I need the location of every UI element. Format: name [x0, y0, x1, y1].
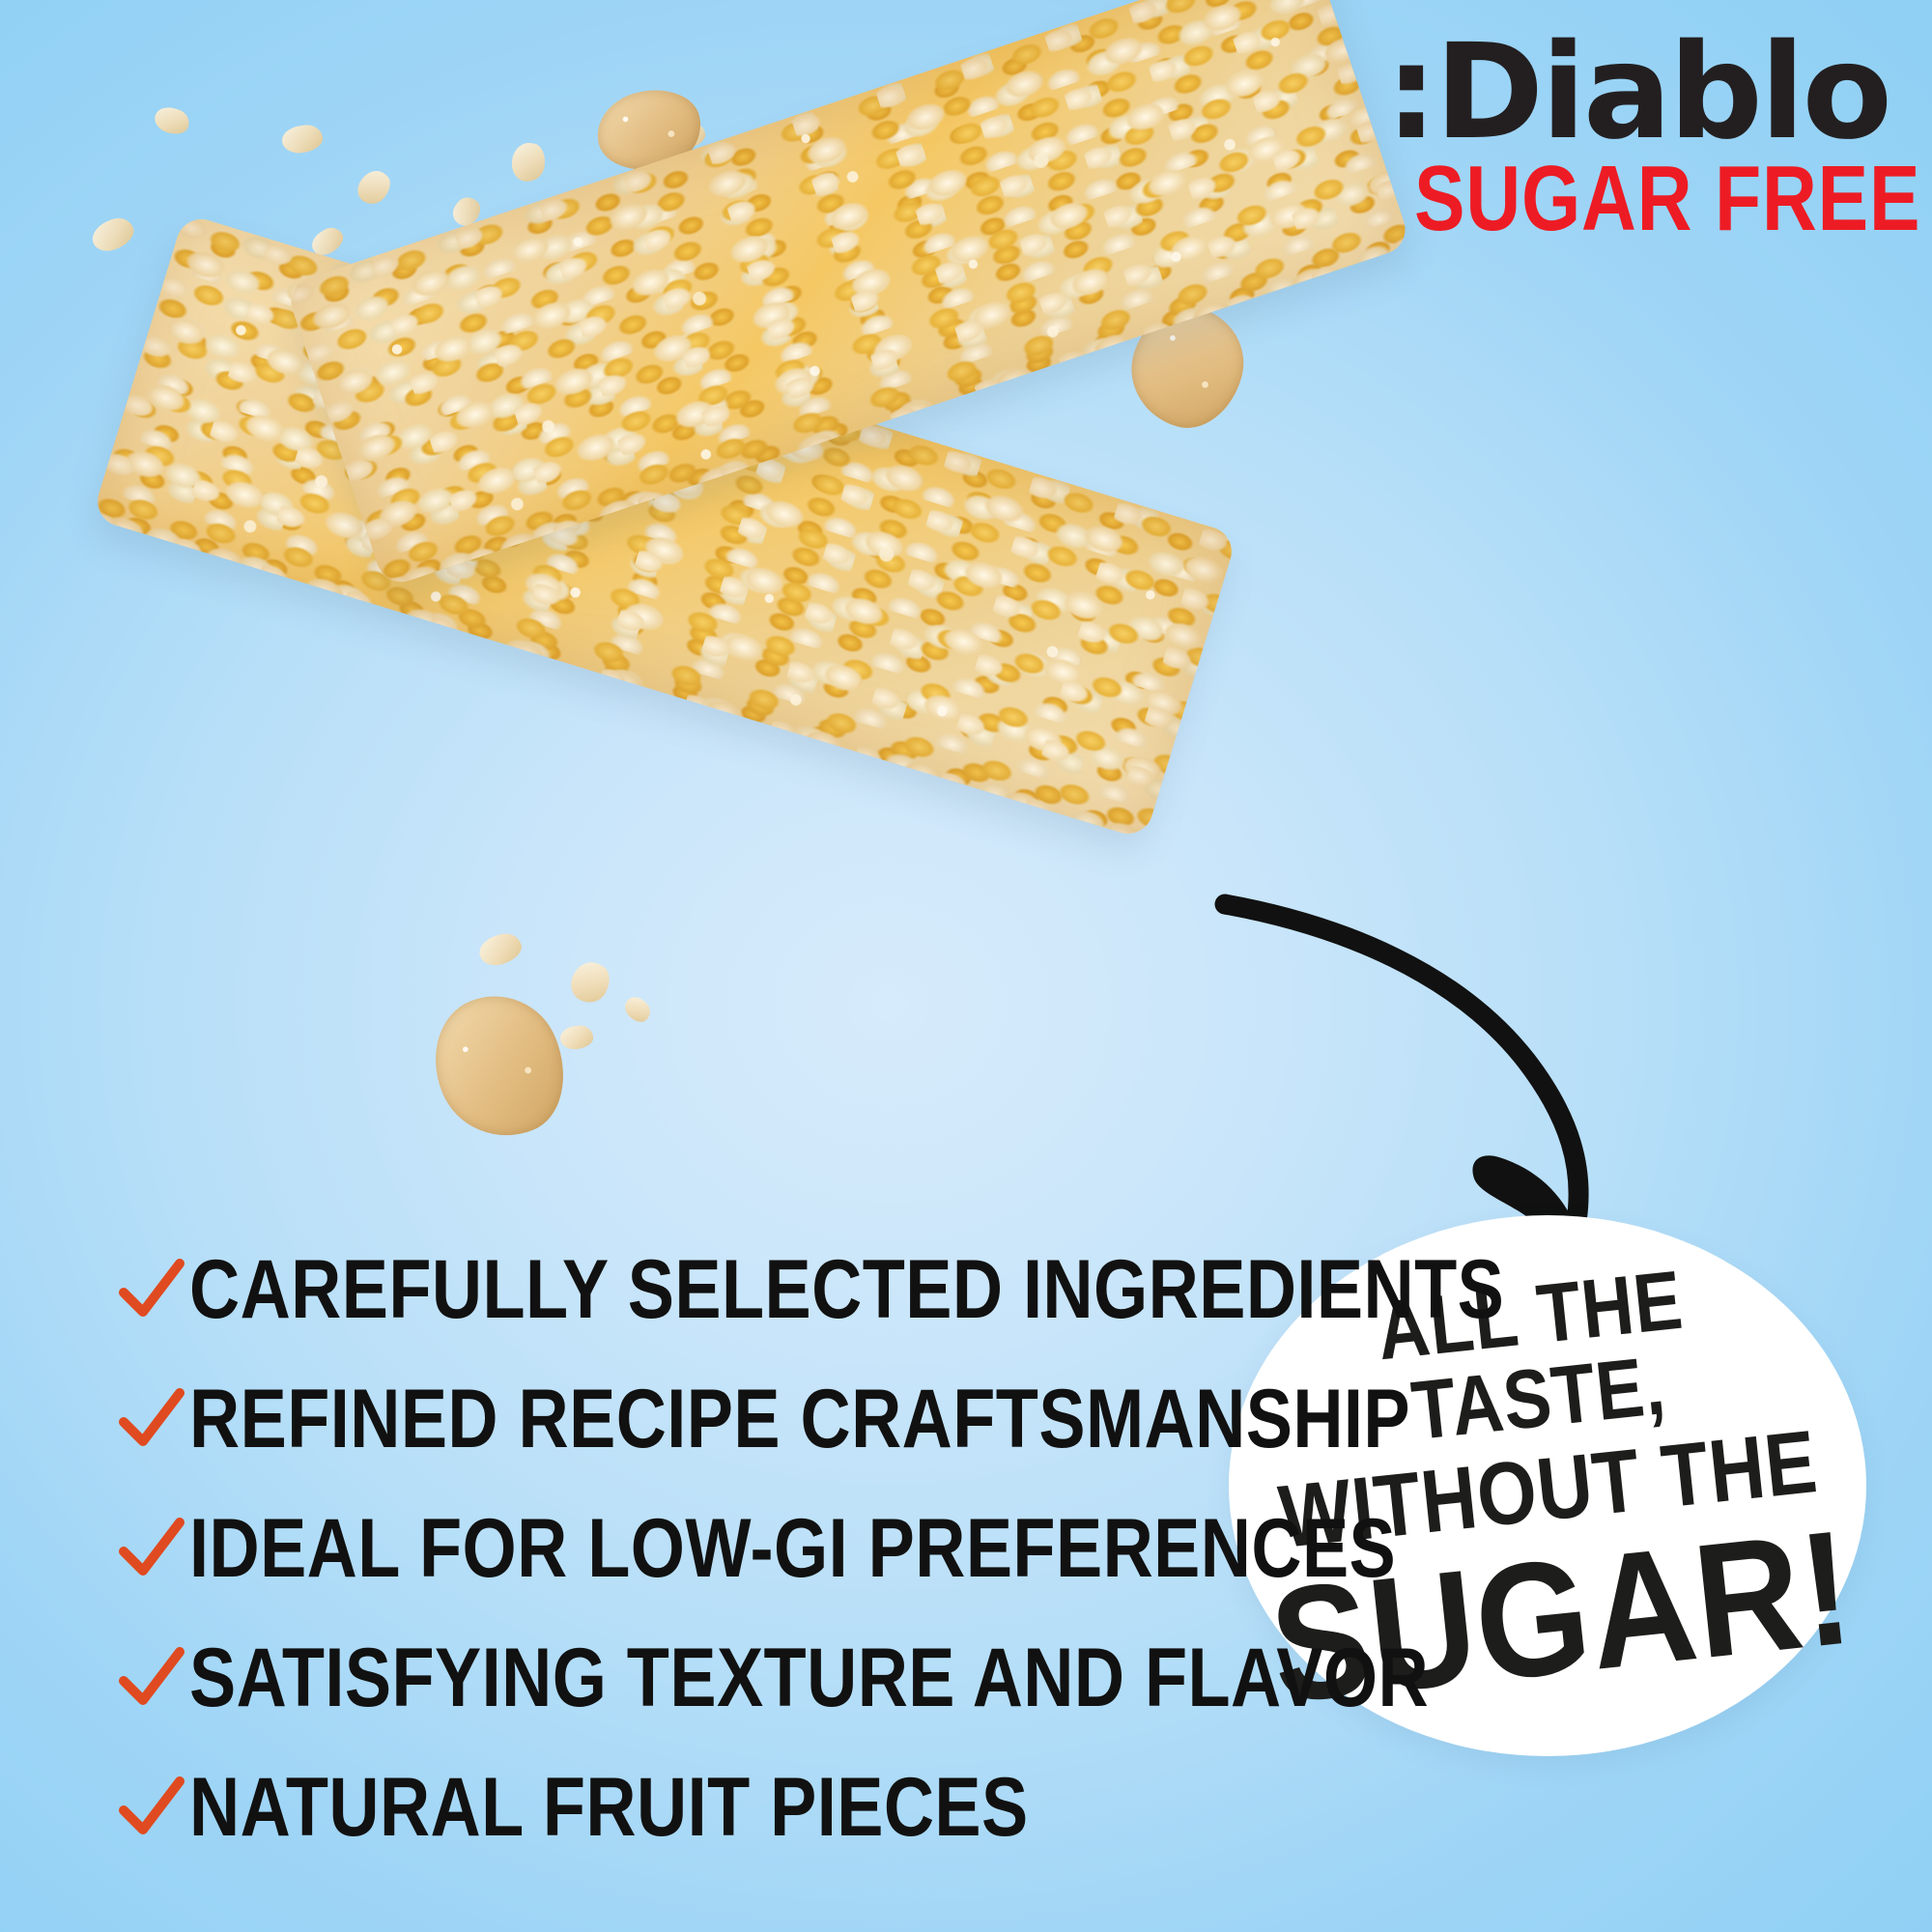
oat-flake-crumb	[620, 992, 654, 1026]
feature-label: IDEAL FOR LOW-GI PREFERENCES	[189, 1507, 1396, 1590]
feature-label: SATISFYING TEXTURE AND FLAVOR	[189, 1636, 1429, 1719]
feature-item: REFINED RECIPE CRAFTSMANSHIP	[114, 1354, 1157, 1484]
brand-tagline: SUGAR FREE	[1414, 157, 1889, 241]
feature-item: CAREFULLY SELECTED INGREDIENTS	[114, 1225, 1157, 1354]
oat-flake-crumb	[559, 1024, 594, 1050]
check-icon	[114, 1252, 189, 1327]
oat-flake-crumb	[88, 213, 138, 256]
feature-list: CAREFULLY SELECTED INGREDIENTS REFINED R…	[114, 1225, 1157, 1872]
check-icon	[114, 1381, 189, 1457]
oat-flake-crumb	[509, 141, 547, 184]
feature-label: NATURAL FRUIT PIECES	[189, 1766, 1029, 1849]
product-ad-poster: :Diablo SUGAR FREE ALL THE TASTE, WITHOU…	[0, 0, 1932, 1932]
curved-arrow-icon	[1140, 850, 1681, 1275]
check-icon	[114, 1770, 189, 1845]
feature-label: CAREFULLY SELECTED INGREDIENTS	[189, 1248, 1504, 1331]
oat-flake-crumb	[564, 956, 615, 1009]
check-icon	[114, 1640, 189, 1716]
check-icon	[114, 1511, 189, 1586]
oat-flake-crumb	[152, 103, 192, 138]
feature-label: REFINED RECIPE CRAFTSMANSHIP	[189, 1378, 1410, 1461]
brand-name: :Diablo	[1310, 33, 1889, 154]
oat-flake-crumb	[352, 165, 396, 211]
feature-item: NATURAL FRUIT PIECES	[114, 1743, 1157, 1872]
cereal-flake-crumb	[414, 977, 584, 1156]
brand-block: :Diablo SUGAR FREE	[1310, 33, 1889, 241]
oat-flake-crumb	[280, 123, 324, 156]
feature-item: SATISFYING TEXTURE AND FLAVOR	[114, 1613, 1157, 1743]
feature-item: IDEAL FOR LOW-GI PREFERENCES	[114, 1484, 1157, 1613]
oat-flake-crumb	[475, 929, 525, 970]
